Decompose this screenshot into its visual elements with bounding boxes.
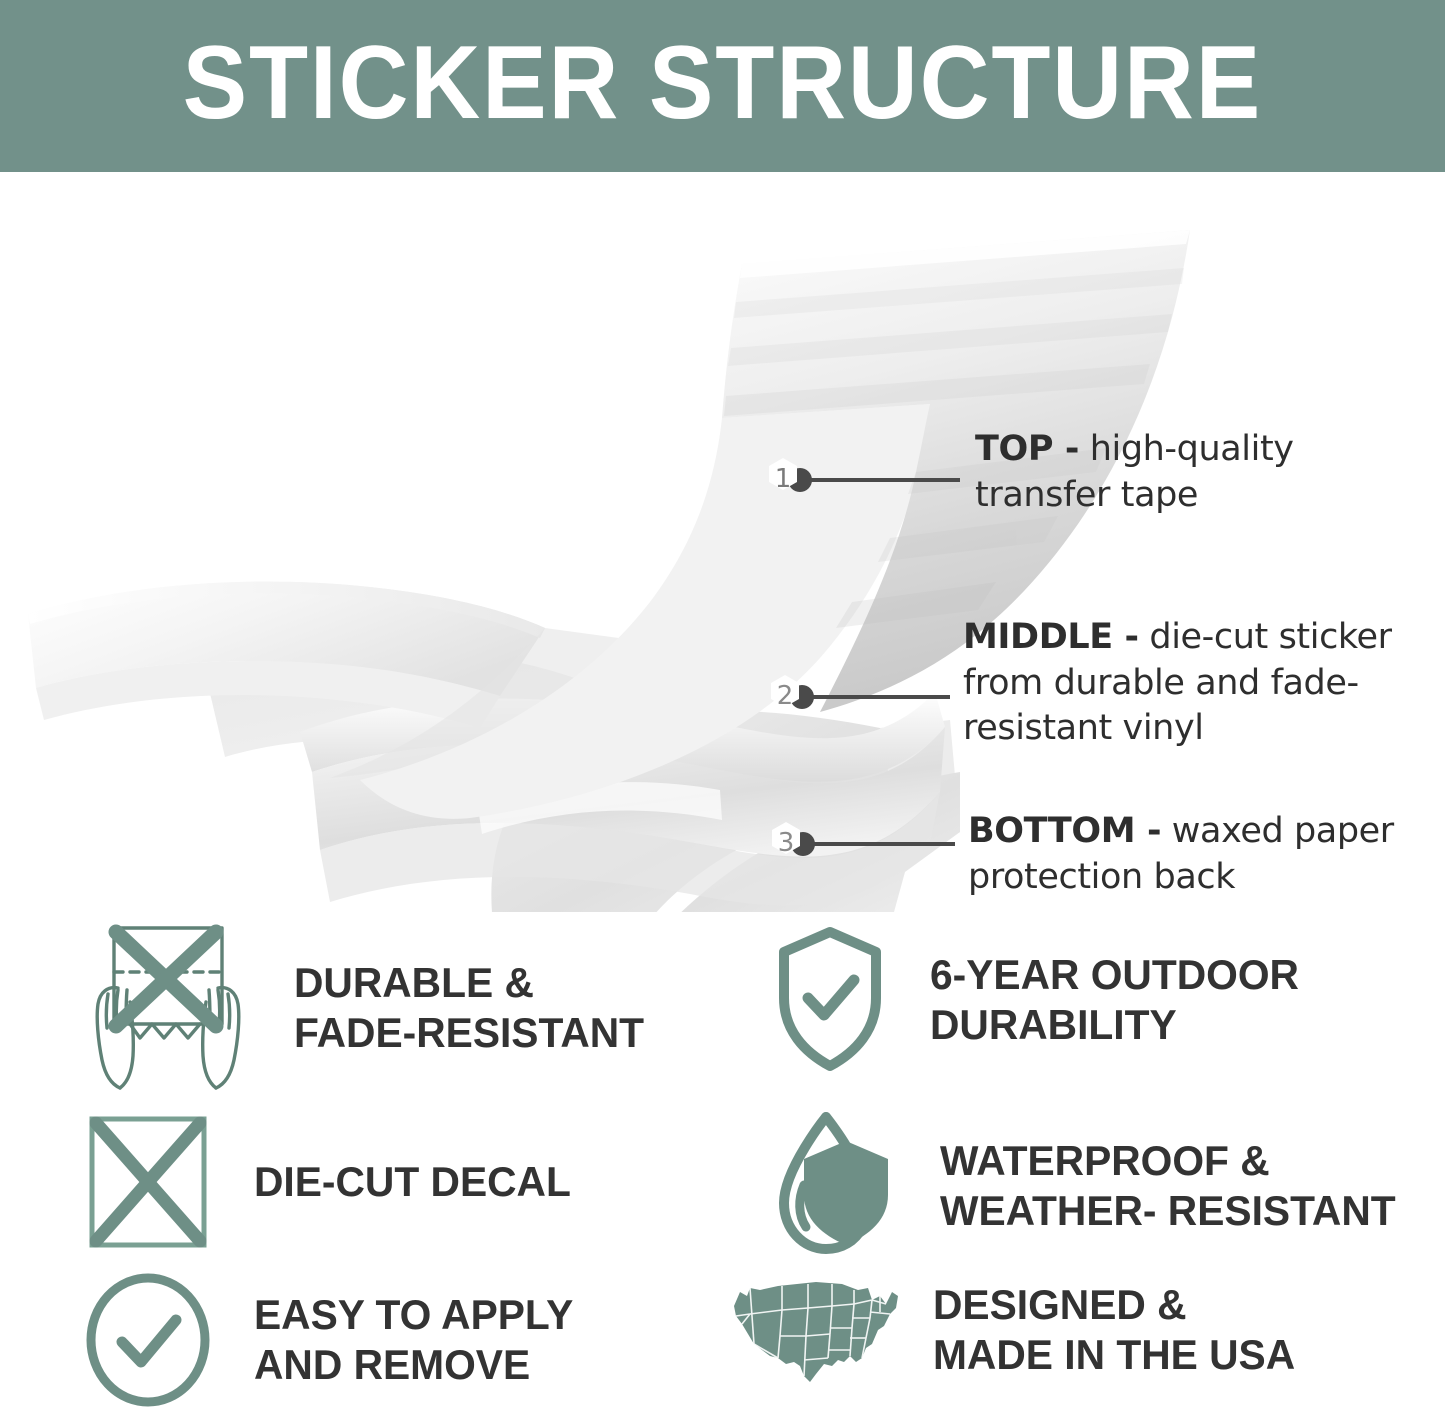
feature-die-cut-decal: DIE-CUT DECAL [78, 1107, 581, 1257]
hands-tearing-sheet-crossed-out-icon [78, 920, 258, 1096]
feature-durable-fade-resistant: DURABLE & FADE-RESISTANT [78, 920, 655, 1096]
callout-1-text: TOP - high-quality transfer tape [975, 427, 1435, 518]
callout-2-badge-number: 2 [777, 681, 794, 711]
feature-waterproof-weather-resistant-label: WATERPROOF & WEATHER- RESISTANT [940, 1136, 1396, 1235]
feature-waterproof-weather-resistant: WATERPROOF & WEATHER- RESISTANT [770, 1107, 1410, 1265]
feature-label-line2: AND REMOVE [254, 1340, 573, 1390]
callout-3-text: BOTTOM - waxed paper protection back [968, 809, 1433, 900]
callout-3-badge-number: 3 [778, 828, 795, 858]
feature-label-line1: DURABLE & [294, 958, 644, 1008]
feature-list: DURABLE & FADE-RESISTANT 6-YEAR OUTDOOR … [0, 912, 1445, 1423]
circle-check-icon [78, 1270, 218, 1410]
callout-3-lead: BOTTOM - [968, 811, 1161, 851]
water-droplet-shield-icon [770, 1107, 900, 1265]
feature-label-line2: DURABILITY [930, 1000, 1299, 1050]
feature-label-line1: 6-YEAR OUTDOOR [930, 950, 1299, 1000]
feature-label-line1: DIE-CUT DECAL [254, 1157, 571, 1207]
feature-designed-made-usa: DESIGNED & MADE IN THE USA [720, 1270, 1306, 1390]
feature-label-line1: EASY TO APPLY [254, 1290, 573, 1340]
infographic-page: STICKER STRUCTURE [0, 0, 1445, 1423]
feature-easy-apply-remove-label: EASY TO APPLY AND REMOVE [254, 1290, 573, 1389]
feature-label-line1: DESIGNED & [933, 1280, 1295, 1330]
header-band: STICKER STRUCTURE [0, 0, 1445, 172]
page-title: STICKER STRUCTURE [183, 31, 1262, 141]
sticker-layers-illustration: 1 2 3 [0, 172, 1445, 912]
feature-label-line1: WATERPROOF & [940, 1136, 1396, 1186]
callout-1-lead: TOP - [975, 429, 1079, 469]
feature-easy-apply-remove: EASY TO APPLY AND REMOVE [78, 1270, 583, 1410]
feature-designed-made-usa-label: DESIGNED & MADE IN THE USA [933, 1280, 1295, 1379]
feature-label-line2: MADE IN THE USA [933, 1330, 1295, 1380]
shield-check-icon [770, 920, 890, 1080]
feature-outdoor-durability: 6-YEAR OUTDOOR DURABILITY [770, 920, 1310, 1080]
feature-die-cut-decal-label: DIE-CUT DECAL [254, 1157, 571, 1207]
callout-1-badge-number: 1 [775, 464, 792, 494]
feature-outdoor-durability-label: 6-YEAR OUTDOOR DURABILITY [930, 950, 1299, 1049]
callout-2-lead: MIDDLE - [963, 617, 1139, 657]
sticker-layers-diagram: 1 2 3 TOP - high-quality transfer tape M… [0, 172, 1445, 912]
rectangle-with-x-icon [78, 1107, 218, 1257]
feature-label-line2: FADE-RESISTANT [294, 1008, 644, 1058]
usa-map-icon [720, 1270, 905, 1390]
callout-2-text: MIDDLE - die-cut sticker from durable an… [963, 615, 1441, 752]
feature-label-line2: WEATHER- RESISTANT [940, 1186, 1396, 1236]
feature-durable-fade-resistant-label: DURABLE & FADE-RESISTANT [294, 958, 644, 1057]
